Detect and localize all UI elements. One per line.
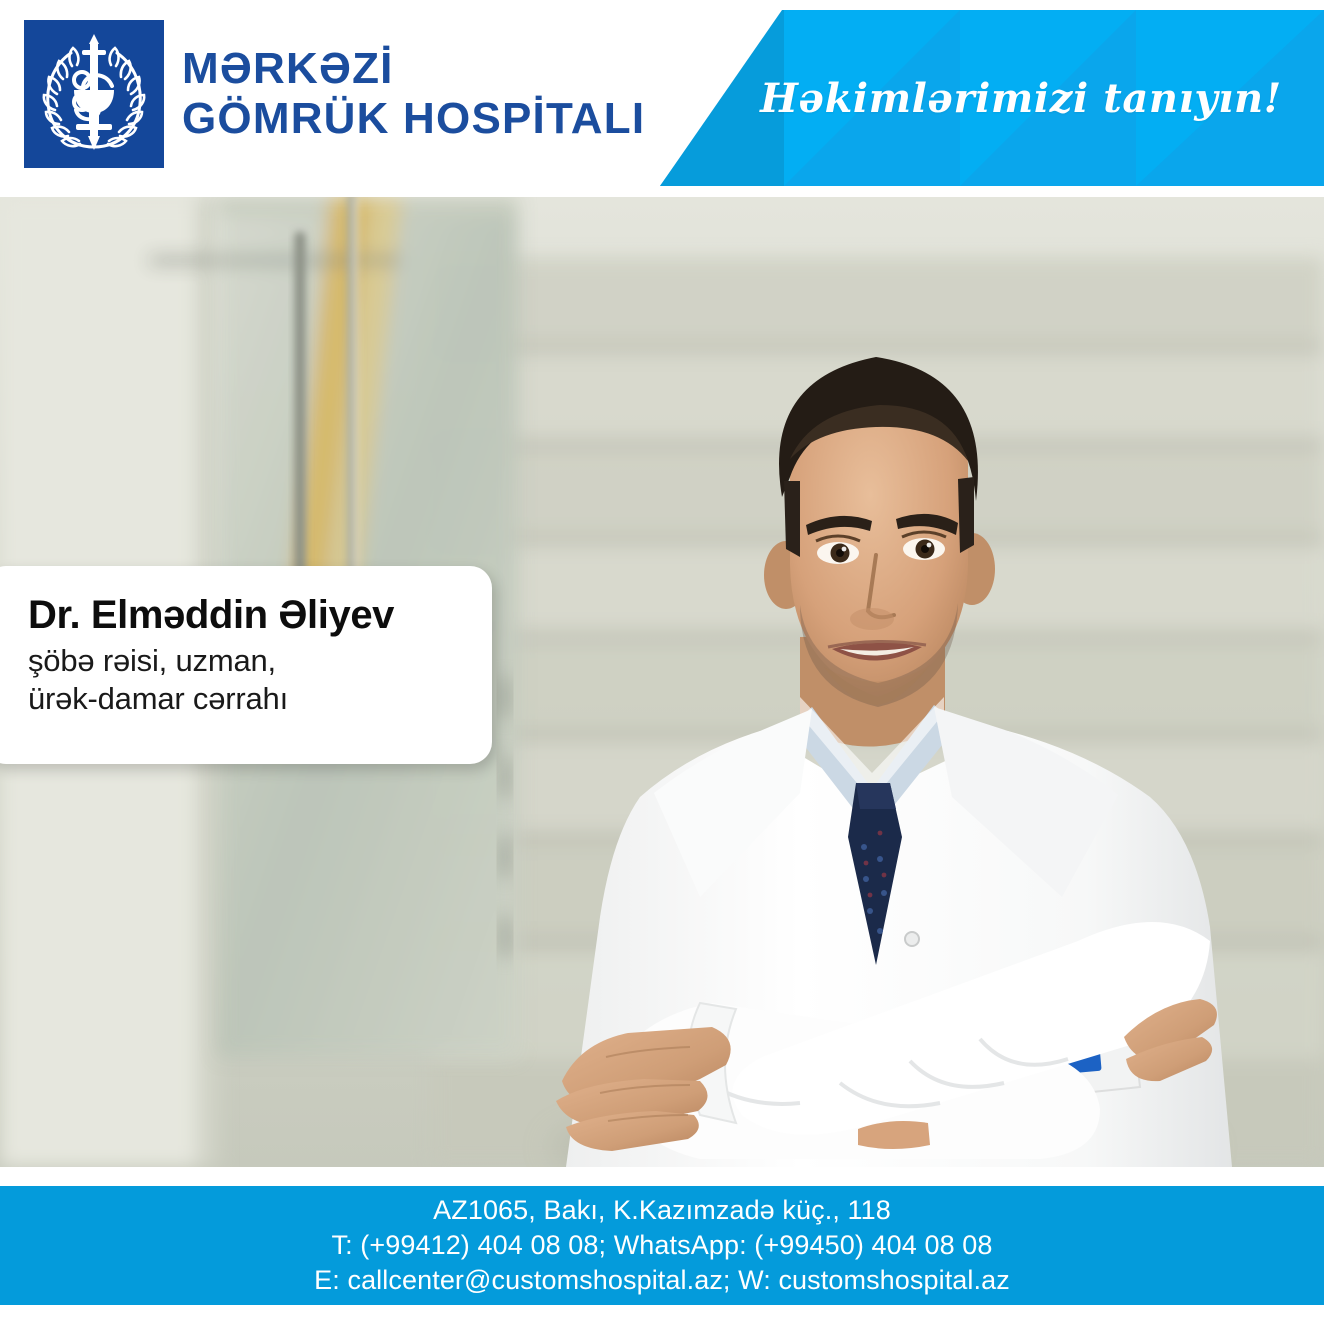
footer-address: AZ1065, Bakı, K.Kazımzadə küç., 118	[433, 1193, 891, 1228]
contact-footer: AZ1065, Bakı, K.Kazımzadə küç., 118 T: (…	[0, 1186, 1324, 1305]
doctor-name: Dr. Elməddin Əliyev	[28, 592, 472, 638]
brand-title: MƏRKƏZİ GÖMRÜK HOSPİTALI	[182, 44, 645, 144]
doctor-profile-poster: MƏRKƏZİ GÖMRÜK HOSPİTALI	[0, 0, 1324, 1324]
poster-header: MƏRKƏZİ GÖMRÜK HOSPİTALI	[0, 0, 1324, 197]
doctor-name-card: Dr. Elməddin Əliyev şöbə rəisi, uzman, ü…	[0, 566, 492, 764]
doctor-title-line-1: şöbə rəisi, uzman,	[28, 642, 472, 680]
brand-title-line-2: GÖMRÜK HOSPİTALI	[182, 94, 645, 144]
brand-title-line-1: MƏRKƏZİ	[182, 44, 645, 94]
footer-phone: T: (+99412) 404 08 08; WhatsApp: (+99450…	[331, 1228, 992, 1263]
banner-chevron-graphic: Həkimlərimizi tanıyın!	[660, 10, 1324, 186]
footer-email-website: E: callcenter@customshospital.az; W: cus…	[314, 1263, 1010, 1298]
doctor-title: şöbə rəisi, uzman, ürək-damar cərrahı	[28, 642, 472, 718]
doctor-title-line-2: ürək-damar cərrahı	[28, 680, 472, 718]
customs-hospital-emblem-icon	[24, 20, 164, 168]
